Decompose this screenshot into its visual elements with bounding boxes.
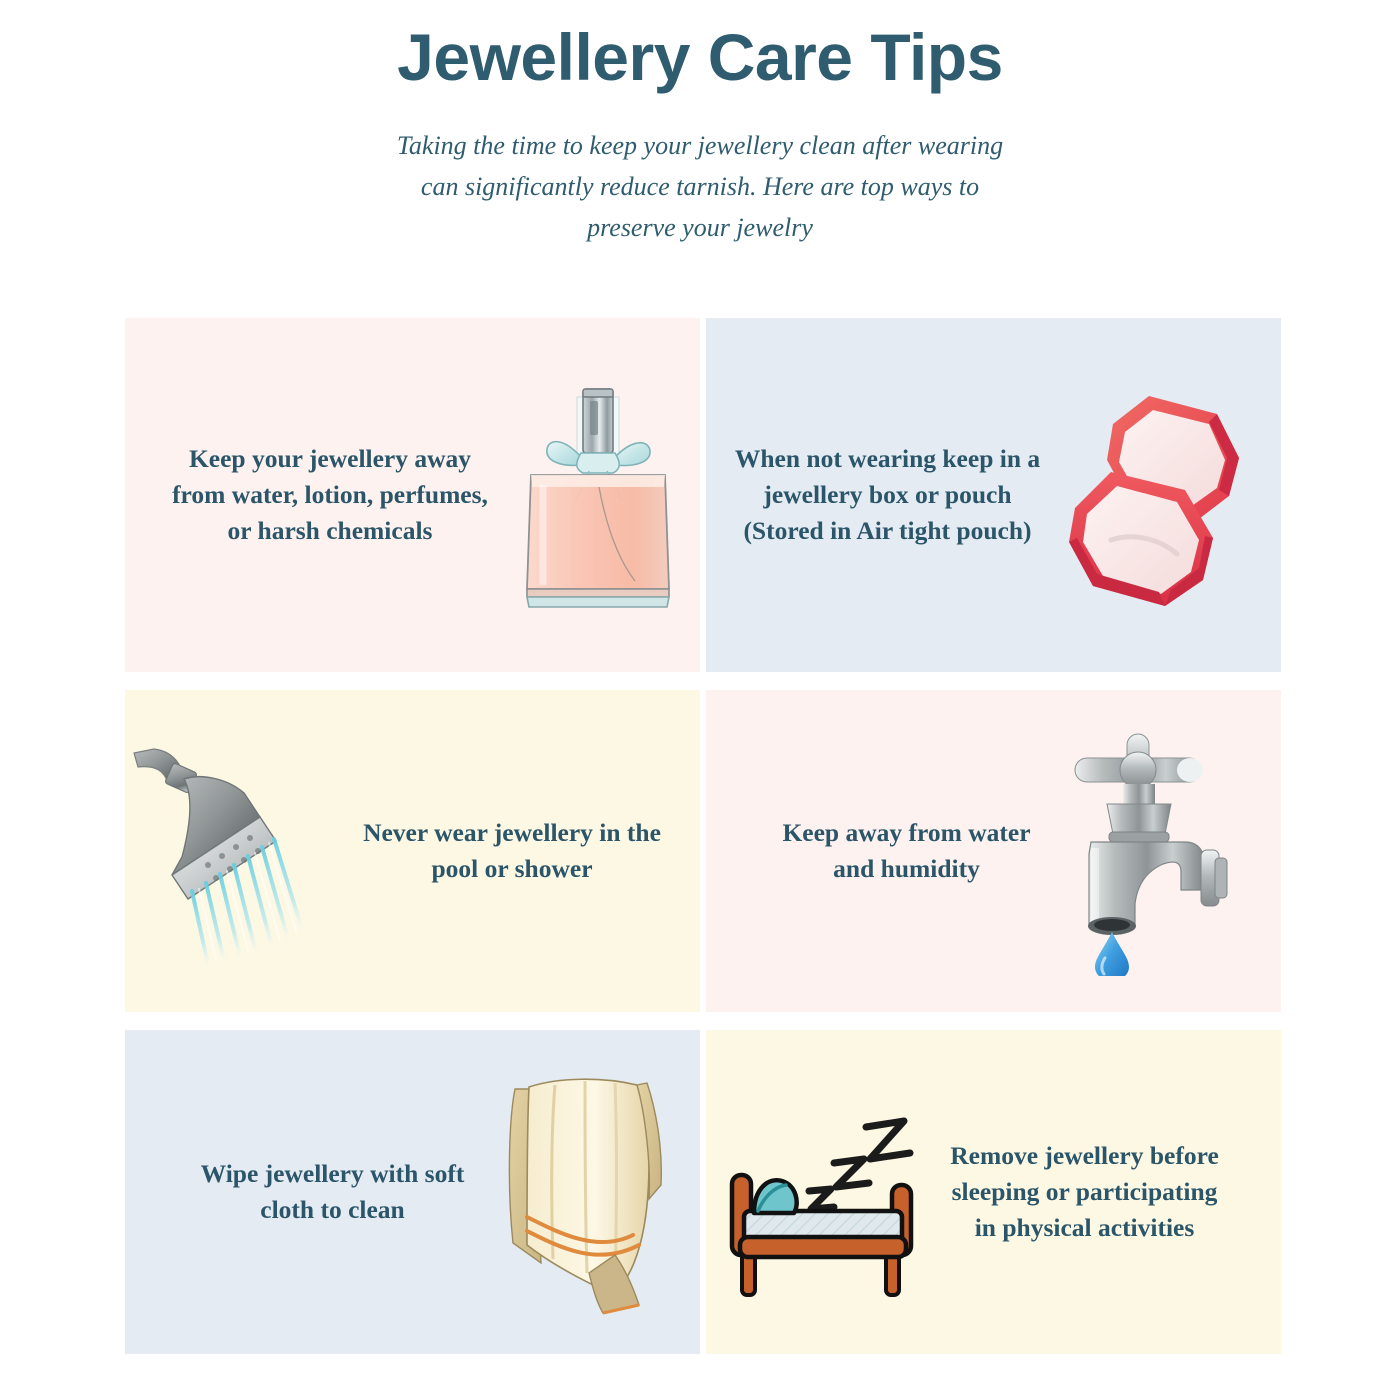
card-no-pool-shower: Never wear jewellery in the pool or show… (125, 690, 700, 1012)
card-text: Never wear jewellery in the pool or show… (354, 815, 670, 887)
card-wipe-with-cloth: Wipe jewellery with soft cloth to clean (125, 1030, 700, 1354)
soft-cloth-icon (488, 1030, 678, 1354)
card-text: Remove jewellery before sleeping or part… (934, 1138, 1235, 1247)
card-store-in-box: When not wearing keep in a jewellery box… (706, 318, 1281, 672)
page-subtitle: Taking the time to keep your jewellery c… (390, 125, 1010, 248)
card-avoid-chemicals: Keep your jewellery away from water, lot… (125, 318, 700, 672)
perfume-bottle-icon (503, 318, 693, 672)
shower-head-icon (125, 690, 354, 1012)
page-title: Jewellery Care Tips (0, 22, 1400, 93)
card-remove-before-sleep: Remove jewellery before sleeping or part… (706, 1030, 1281, 1354)
faucet-drip-icon (1047, 690, 1251, 1012)
ring-box-icon (1053, 318, 1268, 672)
card-text: Keep away from water and humidity (766, 815, 1047, 887)
card-text: Wipe jewellery with soft cloth to clean (177, 1156, 488, 1228)
bed-sleep-icon (714, 1030, 934, 1354)
card-avoid-humidity: Keep away from water and humidity (706, 690, 1281, 1012)
infographic-page: Jewellery Care Tips Taking the time to k… (0, 0, 1400, 1400)
card-text: When not wearing keep in a jewellery box… (722, 441, 1053, 550)
header: Jewellery Care Tips Taking the time to k… (0, 0, 1400, 249)
tips-grid: Keep your jewellery away from water, lot… (125, 318, 1275, 1356)
card-text: Keep your jewellery away from water, lot… (157, 441, 503, 550)
